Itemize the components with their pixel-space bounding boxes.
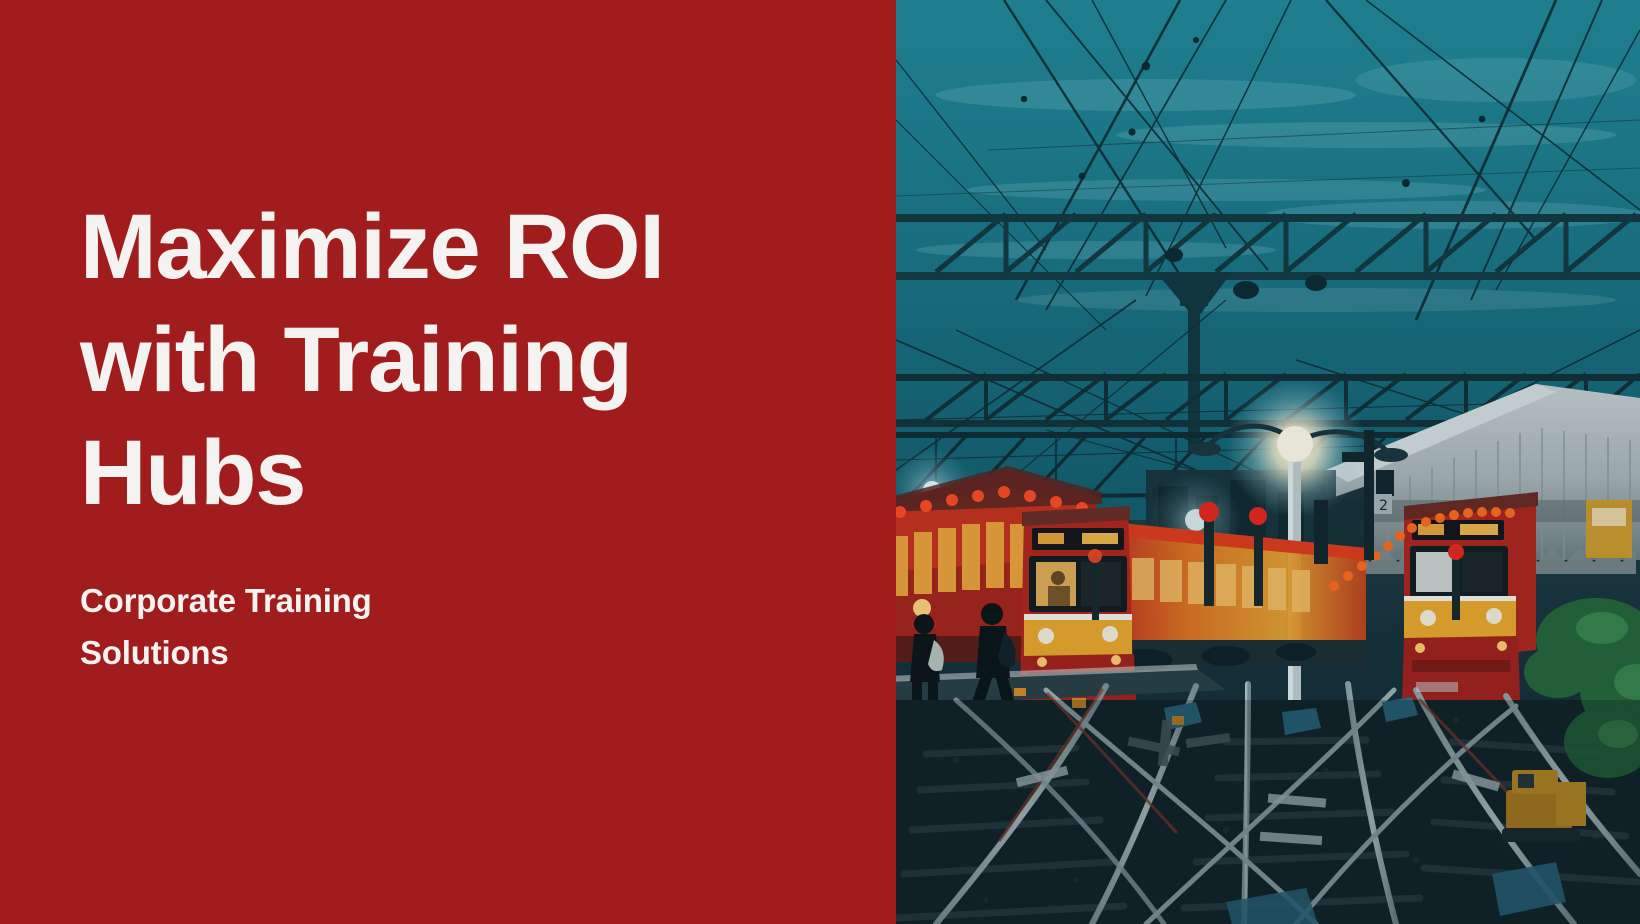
title-slide: Maximize ROI with Training Hubs Corporat… xyxy=(0,0,1640,924)
subtitle: Corporate Training Solutions xyxy=(80,575,500,679)
train-depot-illustration: 2 xyxy=(896,0,1640,924)
hero-photo: 2 xyxy=(896,0,1640,924)
left-red-panel: Maximize ROI with Training Hubs Corporat… xyxy=(0,0,896,924)
page-title: Maximize ROI with Training Hubs xyxy=(80,191,880,530)
